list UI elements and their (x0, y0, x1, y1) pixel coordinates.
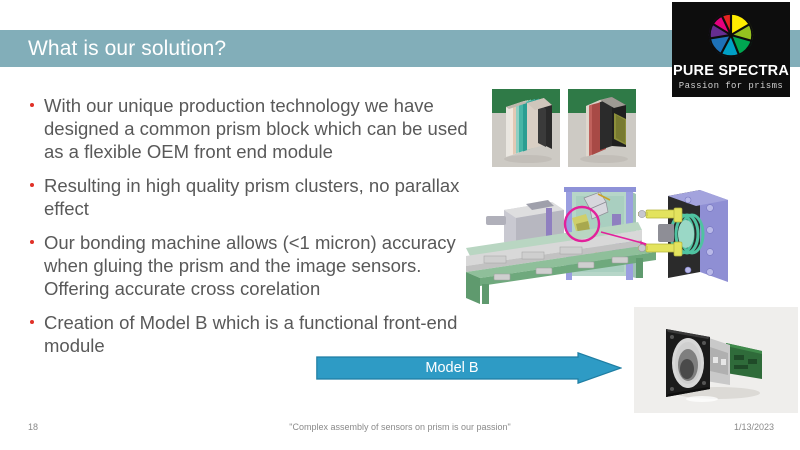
slide: What is our solution? (0, 0, 800, 450)
prism-block-photo-2 (568, 89, 636, 167)
list-item: Resulting in high quality prism clusters… (24, 174, 476, 220)
logo-tagline: Passion for prisms (672, 81, 790, 91)
aperture-iris-icon (704, 8, 758, 62)
footer-date: 1/13/2023 (734, 422, 774, 432)
model-b-module-photo (634, 307, 798, 413)
list-item: Our bonding machine allows (<1 micron) a… (24, 231, 476, 300)
bullet-text: With our unique production technology we… (44, 94, 476, 163)
bullet-text: Our bonding machine allows (<1 micron) a… (44, 231, 476, 300)
logo-wordmark: PURE SPECTRA (672, 63, 790, 79)
list-item: With our unique production technology we… (24, 94, 476, 163)
model-b-arrow-banner: Model B (316, 352, 622, 384)
bullet-dot-icon (30, 240, 34, 244)
page-title: What is our solution? (28, 34, 588, 64)
prism-block-photo-1 (492, 89, 560, 167)
list-item: Creation of Model B which is a functiona… (24, 311, 476, 357)
bullet-text: Resulting in high quality prism clusters… (44, 174, 476, 220)
bullet-dot-icon (30, 103, 34, 107)
pure-spectra-logo: PURE SPECTRA Passion for prisms (672, 2, 790, 97)
footer-tagline: "Complex assembly of sensors on prism is… (0, 422, 800, 432)
bullet-text: Creation of Model B which is a functiona… (44, 311, 476, 357)
model-b-label: Model B (316, 352, 588, 384)
bonding-machine-cad (460, 186, 800, 311)
bullet-dot-icon (30, 183, 34, 187)
bullet-list: With our unique production technology we… (24, 94, 476, 368)
bullet-dot-icon (30, 320, 34, 324)
